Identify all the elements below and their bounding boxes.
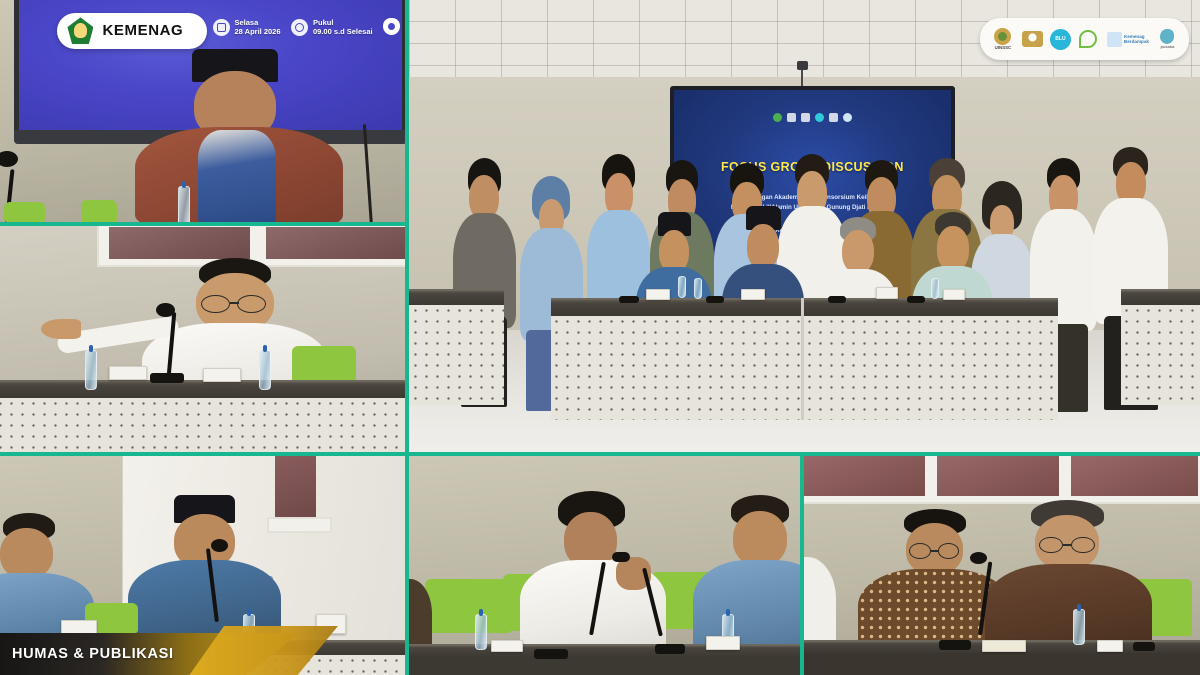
berdampak-caption: Berdampak: [1124, 39, 1149, 44]
open-book: [982, 640, 1026, 652]
panel-top-left: KEMENAG Selasa 28 April 2026 Pukul: [0, 0, 405, 222]
pusaka-caption: pusaka: [1161, 45, 1175, 49]
handheld-microphone: [612, 552, 630, 562]
table-microphone: [828, 296, 846, 303]
water-bottle: [694, 278, 702, 299]
screen-time-text: Pukul 09.00 s.d Selesai: [313, 18, 373, 36]
water-bottle: [85, 350, 97, 390]
name-plate: [109, 366, 147, 380]
side-table-right-front: [1121, 305, 1200, 404]
water-bottle: [178, 186, 190, 222]
water-bottle: [1073, 609, 1085, 645]
window-row: [804, 456, 1200, 504]
name-plate: [1097, 640, 1123, 652]
pointing-hand: [41, 319, 82, 339]
table-microphone: [655, 644, 685, 654]
table-top: [409, 644, 800, 657]
location-pin-icon: [383, 18, 400, 35]
chair: [4, 202, 45, 222]
kemenag-caption: Kemenag: [1124, 34, 1145, 39]
panel-mid-left: [0, 226, 405, 452]
kemenag-berdampak-logo-icon: Kemenag Berdampak: [1106, 29, 1150, 50]
screen-date-block: Selasa 28 April 2026: [213, 18, 281, 36]
humas-publikasi-banner: HUMAS & PUBLIKASI: [0, 633, 330, 675]
table-microphone: [907, 296, 925, 303]
name-plate: [491, 640, 523, 652]
table-microphone: [150, 373, 184, 383]
presentation-logo-row: [674, 113, 951, 122]
glasses-right-lens: [237, 295, 266, 313]
table-front: [804, 653, 1200, 675]
side-table-left: [409, 289, 504, 305]
name-plate: [203, 368, 241, 382]
glasses-bridge: [1063, 544, 1071, 546]
name-plate: [706, 636, 740, 650]
kemenag-brand-label: KEMENAG: [102, 22, 183, 39]
table-top: [0, 380, 405, 398]
time-label: Pukul: [313, 18, 333, 27]
glasses-left-lens: [1039, 537, 1063, 554]
head: [733, 511, 787, 566]
glasses-bridge: [931, 550, 938, 552]
table-microphone: [939, 640, 971, 650]
calendar-icon: [213, 19, 230, 36]
uinssc-caption: UINSSC: [995, 46, 1012, 50]
name-plate: [646, 289, 670, 300]
panel-bottom-right: [804, 456, 1200, 675]
panel-bottom-middle: [409, 456, 800, 675]
date-weekday: Selasa: [235, 18, 259, 27]
water-bottle: [475, 614, 487, 650]
glasses-left-lens: [201, 295, 230, 313]
chair: [425, 579, 511, 634]
blu-logo-icon: BLU: [1050, 29, 1071, 50]
glasses-bridge: [230, 302, 239, 304]
time-value: 09.00 s.d Selesai: [313, 27, 373, 36]
attendee-batik: [883, 509, 986, 654]
uinssc-logo-icon: UINSSC: [991, 24, 1015, 54]
water-bottle: [678, 276, 686, 298]
kemenag-pentagon-logo-icon: [67, 17, 93, 44]
clock-icon: [291, 19, 308, 36]
blu-caption: BLU: [1055, 37, 1065, 42]
panel-bottom-left: HUMAS & PUBLIKASI: [0, 456, 405, 675]
ceiling-camera-icon: [797, 61, 808, 70]
head: [0, 528, 53, 580]
side-table-left-front: [409, 305, 504, 404]
table-microphone: [706, 296, 724, 303]
table-front: [0, 398, 405, 452]
table-microphone: [534, 649, 568, 659]
speaker-batik: [146, 49, 332, 222]
door-window-frame: [267, 517, 332, 532]
door-window: [275, 456, 316, 526]
screen-place-block: [383, 18, 400, 35]
ci-logo-icon: [1078, 29, 1099, 50]
main-table-front: [551, 316, 1057, 420]
microphone-head: [211, 539, 228, 552]
panel-main-group: FOCUS GROUP DISCUSSION Kunjungan Akademi…: [409, 0, 1200, 452]
table-microphone: [619, 296, 639, 303]
inner-batik-collar: [198, 130, 276, 222]
screen-date-text: Selasa 28 April 2026: [235, 18, 281, 36]
pusaka-logo-icon: pusaka: [1157, 29, 1178, 50]
kemenag-brand-pill: KEMENAG: [57, 13, 207, 49]
table-front: [409, 657, 800, 675]
photo-collage: KEMENAG Selasa 28 April 2026 Pukul: [0, 0, 1200, 675]
name-plate: [943, 289, 965, 300]
side-table-right: [1121, 289, 1200, 305]
banner-label: HUMAS & PUBLIKASI: [0, 646, 174, 662]
glasses-right-lens: [1071, 537, 1095, 554]
chair: [81, 200, 117, 222]
name-plate: [741, 289, 765, 300]
glasses-left-lens: [909, 543, 931, 559]
speaker-brown-shirt: [1010, 500, 1125, 653]
water-bottle: [259, 350, 271, 390]
date-full: 28 April 2026: [235, 27, 281, 36]
water-bottle: [931, 278, 939, 299]
institution-logo-strip: UINSSC BLU Kemenag Berdampak pusaka: [980, 18, 1189, 60]
name-plate: [876, 287, 898, 299]
table-microphone: [1133, 642, 1155, 651]
akreditasi-unggul-logo-icon: [1022, 29, 1043, 50]
microphone-head: [156, 303, 175, 317]
screen-time-block: Pukul 09.00 s.d Selesai: [291, 18, 373, 36]
